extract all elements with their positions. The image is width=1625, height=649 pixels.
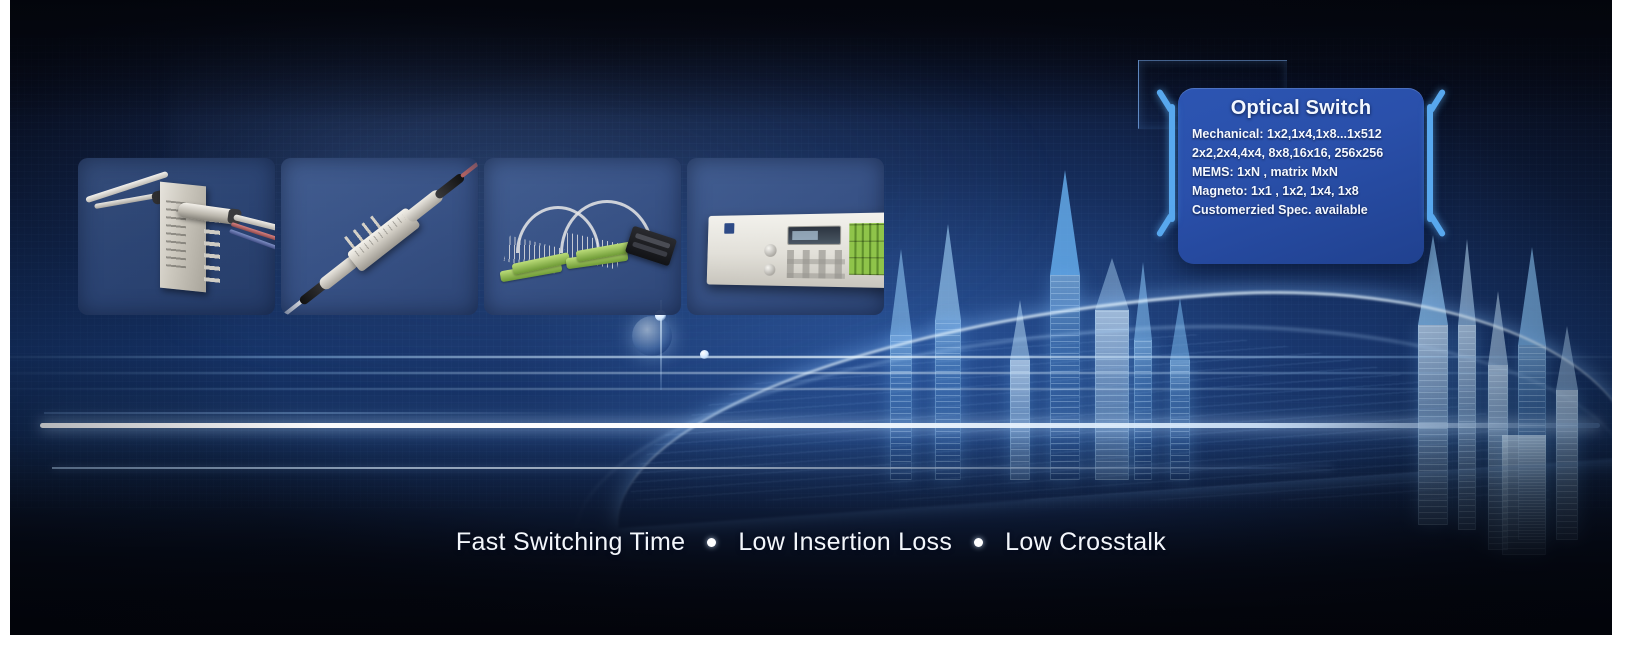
lcd-display <box>787 226 841 245</box>
product-thumbnail-fiber-fanout-assembly[interactable] <box>484 158 681 315</box>
tagline-item-low-insertion-loss: Low Insertion Loss <box>738 528 952 557</box>
switch-body <box>160 182 206 293</box>
fanout-module <box>625 226 677 267</box>
info-card-title: Optical Switch <box>1178 88 1424 125</box>
fanout-assembly <box>498 192 670 292</box>
spec-item-customized: Customerzied Spec. available <box>1192 201 1416 220</box>
product-thumbnail-strip <box>78 158 884 315</box>
product-thumbnail-mechanical-switch-module[interactable] <box>78 158 275 315</box>
optical-switch-info-card: Optical Switch Mechanical: 1x2,1x4,1x8..… <box>1178 88 1424 264</box>
feature-tagline: Fast Switching Time Low Insertion Loss L… <box>10 528 1612 557</box>
instrument-front-panel <box>707 212 884 288</box>
tagline-item-low-crosstalk: Low Crosstalk <box>1005 528 1166 557</box>
fiber-pigtail <box>460 158 478 178</box>
info-card-spec-list: Mechanical: 1x2,1x4,1x8...1x512 2x2,2x4,… <box>1178 125 1424 220</box>
inline-switch-assembly <box>281 158 478 315</box>
rack-instrument <box>707 212 884 288</box>
product-thumbnail-rack-mount-optical-switch[interactable] <box>687 158 884 315</box>
brand-logo <box>724 223 734 234</box>
tagline-item-fast-switching-time: Fast Switching Time <box>456 528 685 557</box>
optical-switch-banner: Optical Switch Mechanical: 1x2,1x4,1x8..… <box>0 0 1625 649</box>
rotary-knob <box>764 264 776 276</box>
bullet-dot-icon <box>707 538 716 547</box>
bracket-right-decoration <box>1420 82 1436 232</box>
bullet-dot-icon <box>974 538 983 547</box>
spec-item-mechanical-matrix: 2x2,2x4,4x4, 8x8,16x16, 256x256 <box>1192 144 1416 163</box>
spec-item-magneto: Magneto: 1x1 , 1x2, 1x4, 1x8 <box>1192 182 1416 201</box>
bracket-left-decoration <box>1166 82 1182 232</box>
artwork-plate: Optical Switch Mechanical: 1x2,1x4,1x8..… <box>10 0 1612 635</box>
spec-item-mems: MEMS: 1xN , matrix MxN <box>1192 163 1416 182</box>
product-thumbnail-inline-optical-switch[interactable] <box>281 158 478 315</box>
button-panel <box>787 250 845 279</box>
spec-item-mechanical: Mechanical: 1x2,1x4,1x8...1x512 <box>1192 125 1416 144</box>
rotary-knob <box>764 244 777 257</box>
green-connector-array <box>849 223 884 276</box>
